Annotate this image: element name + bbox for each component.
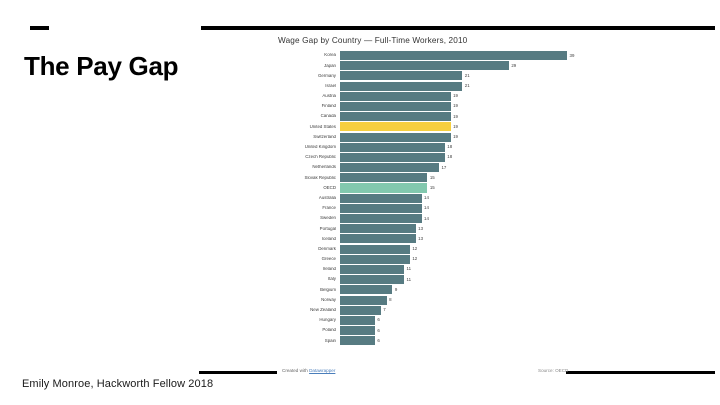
- chart-row: Belgium9: [278, 285, 598, 294]
- bar-track: 15: [340, 183, 598, 192]
- bar-value-label: 18: [445, 155, 452, 159]
- chart-row: New Zealand7: [278, 306, 598, 315]
- bar-value-label: 19: [451, 135, 458, 139]
- bar-value-label: 19: [451, 114, 458, 118]
- chart-row: Greece12: [278, 255, 598, 264]
- bar-track: 12: [340, 245, 598, 254]
- bar-value-label: 9: [392, 288, 397, 292]
- bar-category-label: Iceland: [278, 237, 340, 241]
- bar-category-label: Italy: [278, 277, 340, 281]
- bar-track: 15: [340, 173, 598, 182]
- bar: [340, 82, 462, 91]
- bar-category-label: Belgium: [278, 288, 340, 292]
- bar-category-label: Portugal: [278, 227, 340, 231]
- bar-track: 9: [340, 285, 598, 294]
- bar-category-label: Canada: [278, 114, 340, 118]
- credit-prefix: Created with: [282, 368, 309, 373]
- chart-row: Netherlands17: [278, 163, 598, 172]
- bar-value-label: 6: [375, 318, 380, 322]
- bar-value-label: 18: [445, 145, 452, 149]
- bar-category-label: Sweden: [278, 216, 340, 220]
- bar-category-label: Finland: [278, 104, 340, 108]
- decorative-rule-bottom-left: [199, 371, 277, 374]
- chart-row: Norway8: [278, 296, 598, 305]
- bar-value-label: 19: [451, 94, 458, 98]
- chart-row: Ireland11: [278, 265, 598, 274]
- bar: [340, 296, 387, 305]
- datawrapper-link[interactable]: Datawrapper: [309, 368, 335, 373]
- bar-category-label: Spain: [278, 339, 340, 343]
- bar: [340, 143, 445, 152]
- chart-row: Japan29: [278, 61, 598, 70]
- slide-canvas: The Pay Gap Emily Monroe, Hackworth Fell…: [0, 0, 720, 405]
- bar-track: 19: [340, 112, 598, 121]
- bar-track: 14: [340, 204, 598, 213]
- bar-value-label: 21: [462, 74, 469, 78]
- bar-category-label: Japan: [278, 64, 340, 68]
- bar-track: 21: [340, 82, 598, 91]
- bar-value-label: 6: [375, 339, 380, 343]
- chart-row: Slovak Republic15: [278, 173, 598, 182]
- chart-row: Switzerland19: [278, 133, 598, 142]
- bar-track: 13: [340, 234, 598, 243]
- bar: [340, 133, 451, 142]
- bar: [340, 173, 427, 182]
- bar-category-label: Greece: [278, 257, 340, 261]
- bar: [340, 194, 422, 203]
- bar: [340, 112, 451, 121]
- bar: [340, 71, 462, 80]
- bar-track: 19: [340, 133, 598, 142]
- bar-track: 21: [340, 71, 598, 80]
- bar-track: 19: [340, 102, 598, 111]
- chart-row: Finland19: [278, 102, 598, 111]
- bar: [340, 61, 509, 70]
- bar-category-label: Netherlands: [278, 165, 340, 169]
- chart-row: United States19: [278, 122, 598, 131]
- bar-category-label: Korea: [278, 53, 340, 57]
- bar-category-label: Hungary: [278, 318, 340, 322]
- bar-track: 19: [340, 92, 598, 101]
- bar-category-label: Switzerland: [278, 135, 340, 139]
- bar: [340, 183, 427, 192]
- chart-row: OECD15: [278, 183, 598, 192]
- bar: [340, 102, 451, 111]
- chart-row: Italy11: [278, 275, 598, 284]
- bar-track: 6: [340, 326, 598, 335]
- bar-value-label: 19: [451, 104, 458, 108]
- chart-row: Spain6: [278, 336, 598, 345]
- chart-row: Czech Republic18: [278, 153, 598, 162]
- decorative-rule-bottom-right: [566, 371, 715, 374]
- bar-category-label: Norway: [278, 298, 340, 302]
- bar-value-label: 11: [404, 267, 411, 271]
- chart-row: Sweden14: [278, 214, 598, 223]
- bar-track: 19: [340, 122, 598, 131]
- bar-category-label: New Zealand: [278, 308, 340, 312]
- bar-value-label: 14: [422, 216, 429, 220]
- bar: [340, 326, 375, 335]
- chart-row: Poland6: [278, 326, 598, 335]
- chart-row: Portugal13: [278, 224, 598, 233]
- bar-category-label: Austria: [278, 94, 340, 98]
- bar-category-label: Israel: [278, 84, 340, 88]
- bar: [340, 306, 381, 315]
- bar-category-label: United Kingdom: [278, 145, 340, 149]
- chart-row: Germany21: [278, 71, 598, 80]
- bar-value-label: 14: [422, 196, 429, 200]
- bar-value-label: 13: [416, 227, 423, 231]
- chart-row: United Kingdom18: [278, 143, 598, 152]
- bar-value-label: 6: [375, 328, 380, 332]
- bar-category-label: Denmark: [278, 247, 340, 251]
- bar: [340, 204, 422, 213]
- bar: [340, 336, 375, 345]
- decorative-rule-top-right: [201, 26, 715, 30]
- bar-value-label: 8: [387, 298, 392, 302]
- bar-track: 8: [340, 296, 598, 305]
- chart-row: Israel21: [278, 82, 598, 91]
- bar-category-label: Ireland: [278, 267, 340, 271]
- wage-gap-bar-chart: Wage Gap by Country — Full-Time Workers,…: [278, 36, 598, 361]
- bar-track: 14: [340, 194, 598, 203]
- bar: [340, 245, 410, 254]
- bar-category-label: France: [278, 206, 340, 210]
- bar: [340, 275, 404, 284]
- bar-category-label: Australia: [278, 196, 340, 200]
- bar-track: 7: [340, 306, 598, 315]
- bar-category-label: Germany: [278, 74, 340, 78]
- bar-track: 18: [340, 143, 598, 152]
- bar-track: 39: [340, 51, 598, 60]
- chart-title: Wage Gap by Country — Full-Time Workers,…: [278, 36, 598, 45]
- bar-track: 11: [340, 265, 598, 274]
- bar-track: 11: [340, 275, 598, 284]
- decorative-rule-top-left: [30, 26, 49, 30]
- chart-row: France14: [278, 204, 598, 213]
- bar-value-label: 13: [416, 237, 423, 241]
- byline: Emily Monroe, Hackworth Fellow 2018: [22, 378, 213, 390]
- chart-row: Australia14: [278, 194, 598, 203]
- chart-source: Source: OECD: [538, 368, 568, 373]
- bar-category-label: OECD: [278, 186, 340, 190]
- bar-value-label: 21: [462, 84, 469, 88]
- bar-value-label: 15: [427, 176, 434, 180]
- bar: [340, 234, 416, 243]
- bar: [340, 285, 392, 294]
- chart-credit: Created with Datawrapper: [282, 368, 335, 373]
- bar-value-label: 12: [410, 257, 417, 261]
- page-title: The Pay Gap: [24, 52, 178, 81]
- bar-category-label: Czech Republic: [278, 155, 340, 159]
- bar: [340, 163, 439, 172]
- bar: [340, 265, 404, 274]
- bar: [340, 92, 451, 101]
- bar-track: 29: [340, 61, 598, 70]
- bar-track: 13: [340, 224, 598, 233]
- chart-row: Austria19: [278, 92, 598, 101]
- chart-row: Canada19: [278, 112, 598, 121]
- chart-rows: Korea39Japan29Germany21Israel21Austria19…: [278, 51, 598, 345]
- chart-row: Iceland13: [278, 234, 598, 243]
- bar: [340, 153, 445, 162]
- bar-value-label: 29: [509, 64, 516, 68]
- bar-track: 6: [340, 336, 598, 345]
- bar-track: 6: [340, 316, 598, 325]
- bar-value-label: 11: [404, 277, 411, 281]
- bar-value-label: 19: [451, 125, 458, 129]
- bar-category-label: Slovak Republic: [278, 176, 340, 180]
- bar-track: 12: [340, 255, 598, 264]
- bar-track: 17: [340, 163, 598, 172]
- bar-track: 14: [340, 214, 598, 223]
- chart-row: Hungary6: [278, 316, 598, 325]
- bar-category-label: Poland: [278, 328, 340, 332]
- bar-track: 18: [340, 153, 598, 162]
- bar: [340, 122, 451, 131]
- bar-category-label: United States: [278, 125, 340, 129]
- bar: [340, 224, 416, 233]
- bar-value-label: 14: [422, 206, 429, 210]
- chart-row: Korea39: [278, 51, 598, 60]
- bar-value-label: 7: [381, 308, 386, 312]
- bar: [340, 316, 375, 325]
- chart-row: Denmark12: [278, 245, 598, 254]
- bar: [340, 255, 410, 264]
- bar-value-label: 12: [410, 247, 417, 251]
- bar-value-label: 39: [567, 53, 574, 57]
- bar: [340, 51, 567, 60]
- bar-value-label: 17: [439, 165, 446, 169]
- bar-value-label: 15: [427, 186, 434, 190]
- bar: [340, 214, 422, 223]
